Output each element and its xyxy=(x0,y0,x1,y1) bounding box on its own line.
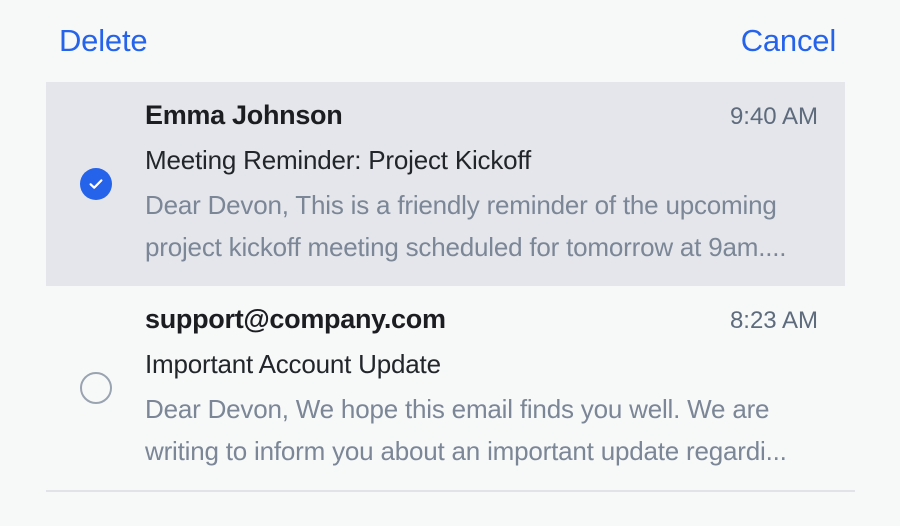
selection-toolbar: Delete Cancel xyxy=(0,0,900,82)
email-row-0[interactable]: Emma Johnson 9:40 AM Meeting Reminder: P… xyxy=(46,82,845,286)
email-row-1-header: support@company.com 8:23 AM xyxy=(145,302,818,338)
email-row-0-subject: Meeting Reminder: Project Kickoff xyxy=(145,144,818,176)
cancel-button[interactable]: Cancel xyxy=(741,20,836,62)
email-row-0-sender: Emma Johnson xyxy=(145,98,342,132)
email-row-1[interactable]: support@company.com 8:23 AM Important Ac… xyxy=(46,286,845,490)
email-row-0-header: Emma Johnson 9:40 AM xyxy=(145,98,818,134)
email-row-1-preview-line-2: writing to inform you about an important… xyxy=(145,430,818,472)
email-row-1-preview-line-1: Dear Devon, We hope this email finds you… xyxy=(145,388,818,430)
email-row-0-timestamp: 9:40 AM xyxy=(730,100,818,134)
email-row-1-content: support@company.com 8:23 AM Important Ac… xyxy=(145,302,845,472)
email-row-0-checkbox[interactable] xyxy=(46,98,145,268)
email-row-1-subject: Important Account Update xyxy=(145,348,818,380)
circle-outline-icon[interactable] xyxy=(80,372,112,404)
email-row-1-preview: Dear Devon, We hope this email finds you… xyxy=(145,388,818,472)
email-row-1-sender: support@company.com xyxy=(145,302,446,336)
email-row-0-preview: Dear Devon, This is a friendly reminder … xyxy=(145,184,818,268)
email-row-1-timestamp: 8:23 AM xyxy=(730,304,818,338)
list-divider xyxy=(46,490,855,492)
check-circle-filled-icon[interactable] xyxy=(80,168,112,200)
email-row-0-content: Emma Johnson 9:40 AM Meeting Reminder: P… xyxy=(145,98,845,268)
email-list: Emma Johnson 9:40 AM Meeting Reminder: P… xyxy=(0,82,900,492)
email-selection-screen: Delete Cancel Emma Johnson 9:40 AM Meeti… xyxy=(0,0,900,526)
email-row-0-preview-line-1: Dear Devon, This is a friendly reminder … xyxy=(145,184,818,226)
email-row-1-checkbox[interactable] xyxy=(46,302,145,472)
delete-button[interactable]: Delete xyxy=(59,20,147,62)
email-row-0-preview-line-2: project kickoff meeting scheduled for to… xyxy=(145,226,818,268)
